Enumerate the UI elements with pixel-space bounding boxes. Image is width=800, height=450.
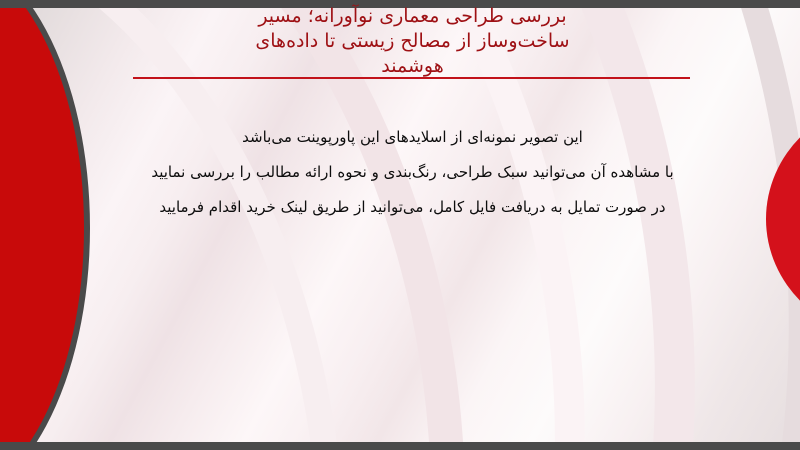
slide-body: این تصویر نمونه‌ای از اسلایدهای این پاور… xyxy=(90,120,735,225)
decorative-ellipse-left xyxy=(0,8,90,442)
slide-body-line-2: با مشاهده آن می‌توانید سبک طراحی، رنگ‌بن… xyxy=(90,155,735,190)
slide-canvas: بررسی طراحی معماری نوآورانه؛ مسیر ساخت‌و… xyxy=(0,0,800,450)
title-divider-rule xyxy=(133,77,690,79)
slide-title-line-1: بررسی طراحی معماری نوآورانه؛ مسیر xyxy=(120,4,705,29)
slide-title-line-3: هوشمند xyxy=(120,54,705,79)
slide-body-line-1: این تصویر نمونه‌ای از اسلایدهای این پاور… xyxy=(90,120,735,155)
slide-title-line-2: ساخت‌وساز از مصالح زیستی تا داده‌های xyxy=(120,29,705,54)
slide-body-line-3: در صورت تمایل به دریافت فایل کامل، می‌تو… xyxy=(90,190,735,225)
frame-edge-bottom xyxy=(0,442,800,450)
decorative-ellipse-right xyxy=(766,100,800,338)
slide-title: بررسی طراحی معماری نوآورانه؛ مسیر ساخت‌و… xyxy=(120,4,705,79)
